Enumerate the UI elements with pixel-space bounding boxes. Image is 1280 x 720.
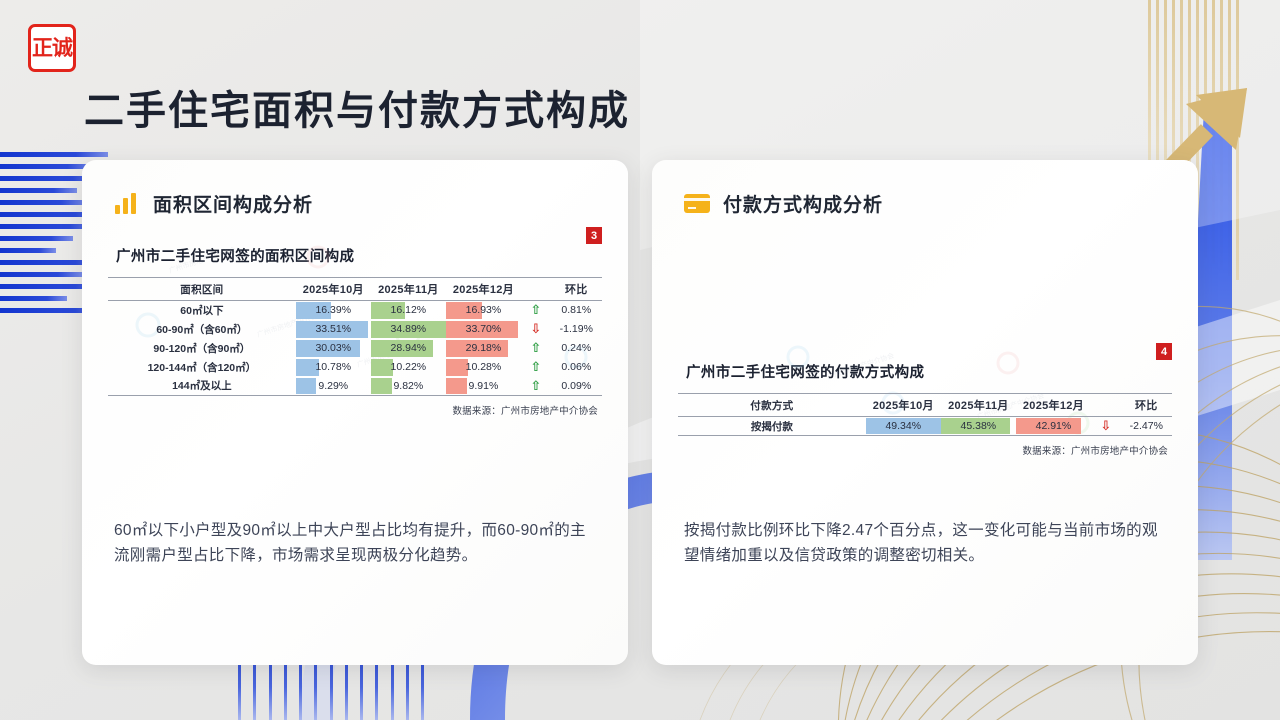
cell-value: 9.91% [446,377,521,396]
cell-value: 29.18% [446,339,521,358]
figure-payment-composition: 4 广州市房地产中介协会 广州市房地产中介协会 广州市二手住宅网签的付款方式构成… [678,333,1172,457]
cell-value: 10.78% [296,358,371,377]
value-bar [446,378,467,395]
col-header-dec: 2025年12月 [1016,394,1091,417]
cell-mom-change: 0.81% [551,301,602,320]
value-bar [296,378,316,395]
cell-value: 45.38% [941,417,1016,436]
col-header-category: 付款方式 [678,394,866,417]
cell-mom-change: -2.47% [1121,417,1172,436]
col-header-oct: 2025年10月 [296,278,371,301]
table-row: 按揭付款49.34%45.38%42.91%⇩-2.47% [678,417,1172,436]
value-bar [446,359,468,376]
cell-value: 16.93% [446,301,521,320]
cell-mom-change: 0.06% [551,358,602,377]
cell-category: 144㎡及以上 [108,377,296,396]
table-row: 90-120㎡（含90㎡）30.03%28.94%29.18%⇧0.24% [108,339,602,358]
cell-value: 9.82% [371,377,446,396]
cell-value: 16.39% [296,301,371,320]
col-header-mom: 环比 [551,278,602,301]
trend-down-icon: ⇩ [1091,417,1121,436]
cell-value: 9.29% [296,377,371,396]
cell-value: 28.94% [371,339,446,358]
cell-category: 按揭付款 [678,417,866,436]
card-caption: 60㎡以下小户型及90㎡以上中大户型占比均有提升，而60-90㎡的主流刚需户型占… [114,518,598,568]
trend-down-icon: ⇩ [521,320,551,339]
trend-up-icon: ⇧ [521,339,551,358]
cell-value: 34.89% [371,320,446,339]
figure-title: 广州市二手住宅网签的付款方式构成 [686,361,1172,382]
card-header: 面积区间构成分析 [82,160,628,217]
card-payment-composition: 付款方式构成分析 4 广州市房地产中介协会 广州市房地产中介协会 广州市二手住宅… [652,160,1198,665]
cell-value: 10.28% [446,358,521,377]
table-row: 60㎡以下16.39%16.12%16.93%⇧0.81% [108,301,602,320]
page-title: 二手住宅面积与付款方式构成 [84,78,630,136]
col-header-mom: 环比 [1121,394,1172,417]
cell-category: 60-90㎡（含60㎡） [108,320,296,339]
card-title: 付款方式构成分析 [723,190,883,217]
col-header-nov: 2025年11月 [941,394,1016,417]
table-row: 120-144㎡（含120㎡）10.78%10.22%10.28%⇧0.06% [108,358,602,377]
table-row: 60-90㎡（含60㎡）33.51%34.89%33.70%⇩-1.19% [108,320,602,339]
credit-card-icon [684,194,710,213]
card-caption: 按揭付款比例环比下降2.47个百分点，这一变化可能与当前市场的观望情绪加重以及信… [684,518,1168,568]
trend-up-icon: ⇧ [521,301,551,320]
figure-source: 数据来源：广州市房地产中介协会 [108,403,602,417]
cell-value: 33.51% [296,320,371,339]
col-header-oct: 2025年10月 [866,394,941,417]
figure-area-composition: 3 广州市房地产中介协会 广州市房地产中介协会 广州市房地产中介协会 广州市二手… [108,217,602,417]
figure-badge: 4 [1156,343,1172,360]
bar-chart-icon [114,191,140,217]
brand-logo-text: 正诚 [32,38,72,59]
figure-title: 广州市二手住宅网签的面积区间构成 [116,245,602,266]
table-payment-composition: 付款方式 2025年10月 2025年11月 2025年12月 环比 按揭付款4… [678,393,1172,436]
cell-category: 90-120㎡（含90㎡） [108,339,296,358]
col-header-dec: 2025年12月 [446,278,521,301]
table-row: 144㎡及以上9.29%9.82%9.91%⇧0.09% [108,377,602,396]
figure-badge: 3 [586,227,602,244]
cell-value: 10.22% [371,358,446,377]
trend-up-icon: ⇧ [521,358,551,377]
col-header-category: 面积区间 [108,278,296,301]
table-header-row: 付款方式 2025年10月 2025年11月 2025年12月 环比 [678,394,1172,417]
cell-value: 42.91% [1016,417,1091,436]
cell-mom-change: 0.09% [551,377,602,396]
cell-mom-change: 0.24% [551,339,602,358]
cell-category: 60㎡以下 [108,301,296,320]
trend-up-icon: ⇧ [521,377,551,396]
cell-mom-change: -1.19% [551,320,602,339]
cell-value: 16.12% [371,301,446,320]
cell-value: 33.70% [446,320,521,339]
col-header-nov: 2025年11月 [371,278,446,301]
cell-value: 49.34% [866,417,941,436]
cell-category: 120-144㎡（含120㎡） [108,358,296,377]
col-header-trend [1091,394,1121,417]
card-title: 面积区间构成分析 [153,190,313,217]
card-area-composition: 面积区间构成分析 3 广州市房地产中介协会 广州市房地产中介协会 广州市房地产中… [82,160,628,665]
value-bar [371,359,393,376]
table-header-row: 面积区间 2025年10月 2025年11月 2025年12月 环比 [108,278,602,301]
value-bar [371,378,392,395]
cell-value: 30.03% [296,339,371,358]
figure-source: 数据来源：广州市房地产中介协会 [678,443,1172,457]
table-area-composition: 面积区间 2025年10月 2025年11月 2025年12月 环比 60㎡以下… [108,277,602,396]
brand-logo: 正诚 [28,24,76,72]
col-header-trend [521,278,551,301]
card-header: 付款方式构成分析 [652,160,1198,217]
